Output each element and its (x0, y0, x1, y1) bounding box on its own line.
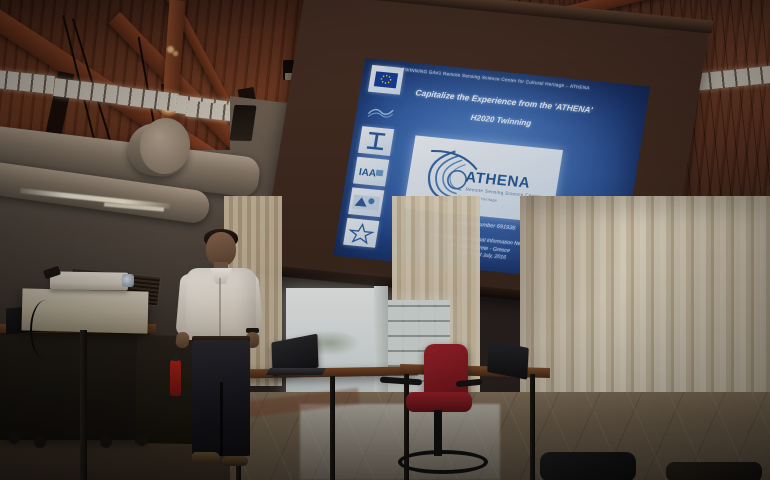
photo-scene: IAA H2020 TWINNING GA (0, 0, 770, 480)
tuc-logo-icon (362, 129, 389, 153)
caster-wheel (8, 432, 20, 444)
chair-base (398, 450, 488, 474)
table-leg (530, 374, 535, 480)
partner-logo-4: IAA (353, 157, 389, 187)
projector-lens (122, 274, 134, 287)
cabinet-left (0, 330, 150, 440)
power-cable (30, 300, 62, 360)
presenter-shoe-left (192, 452, 220, 463)
presenter-head (206, 232, 236, 266)
ceiling-light-icon (172, 50, 179, 57)
partner-logo-3 (358, 126, 394, 156)
table-leg (330, 376, 335, 480)
red-office-chair-seat (406, 392, 472, 412)
presenter-leg-seam (220, 382, 223, 456)
caster-wheel (100, 436, 112, 448)
projector-cart-pole (80, 330, 87, 480)
presenter-hand-left (175, 331, 190, 349)
projector (50, 271, 128, 290)
laptop-keyboard-base (266, 368, 326, 375)
svg-text:IAA: IAA (358, 166, 377, 179)
presenter-shirt-placket (219, 278, 221, 338)
presenter (176, 232, 272, 480)
presenter-shoe-right (222, 456, 248, 466)
caster-wheel (34, 436, 46, 448)
dark-chair-foreground (540, 452, 636, 480)
institute-logo-icon: IAA (356, 161, 387, 182)
dark-chair-right (666, 462, 762, 480)
observatory-logo-icon (351, 191, 382, 214)
caster-wheel (136, 434, 148, 446)
